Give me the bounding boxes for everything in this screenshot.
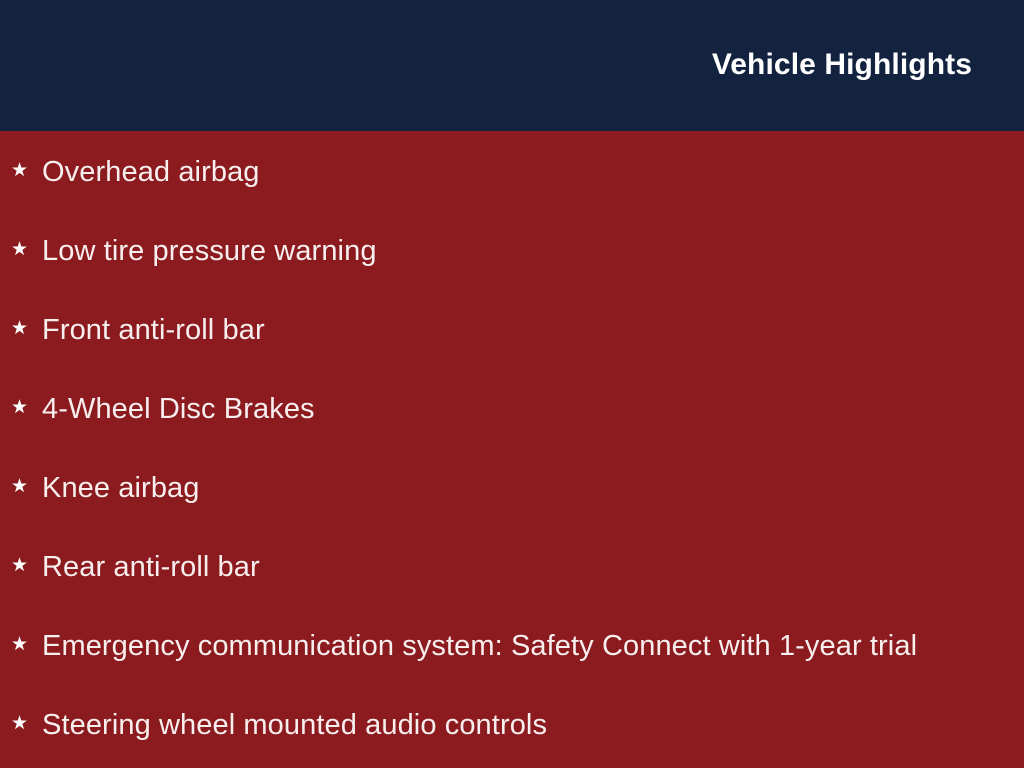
list-item: ★ Knee airbag (0, 448, 1024, 527)
list-item: ★ Front anti-roll bar (0, 290, 1024, 369)
list-item-label: Emergency communication system: Safety C… (42, 629, 917, 663)
list-item: ★ Low tire pressure warning (0, 211, 1024, 290)
slide-header-band: Vehicle Highlights (0, 0, 1024, 131)
slide-body: ★ Overhead airbag ★ Low tire pressure wa… (0, 131, 1024, 768)
star-bullet-icon: ★ (11, 319, 30, 338)
list-item: ★ Overhead airbag (0, 132, 1024, 211)
star-bullet-icon: ★ (11, 635, 30, 654)
list-item-label: Knee airbag (42, 471, 200, 505)
list-item-label: Steering wheel mounted audio controls (42, 708, 547, 742)
star-bullet-icon: ★ (11, 240, 30, 259)
list-item-label: 4-Wheel Disc Brakes (42, 392, 315, 426)
list-item-label: Overhead airbag (42, 155, 260, 189)
list-item-label: Rear anti-roll bar (42, 550, 260, 584)
star-bullet-icon: ★ (11, 398, 30, 417)
list-item: ★ Rear anti-roll bar (0, 527, 1024, 606)
star-bullet-icon: ★ (11, 556, 30, 575)
list-item: ★ 4-Wheel Disc Brakes (0, 369, 1024, 448)
page-title: Vehicle Highlights (712, 47, 972, 83)
vehicle-highlights-list: ★ Overhead airbag ★ Low tire pressure wa… (0, 131, 1024, 764)
list-item: ★ Emergency communication system: Safety… (0, 606, 1024, 685)
slide-root: Vehicle Highlights ★ Overhead airbag ★ L… (0, 0, 1024, 768)
list-item-label: Low tire pressure warning (42, 234, 377, 268)
list-item: ★ Steering wheel mounted audio controls (0, 685, 1024, 764)
star-bullet-icon: ★ (11, 477, 30, 496)
star-bullet-icon: ★ (11, 714, 30, 733)
list-item-label: Front anti-roll bar (42, 313, 265, 347)
star-bullet-icon: ★ (11, 161, 30, 180)
